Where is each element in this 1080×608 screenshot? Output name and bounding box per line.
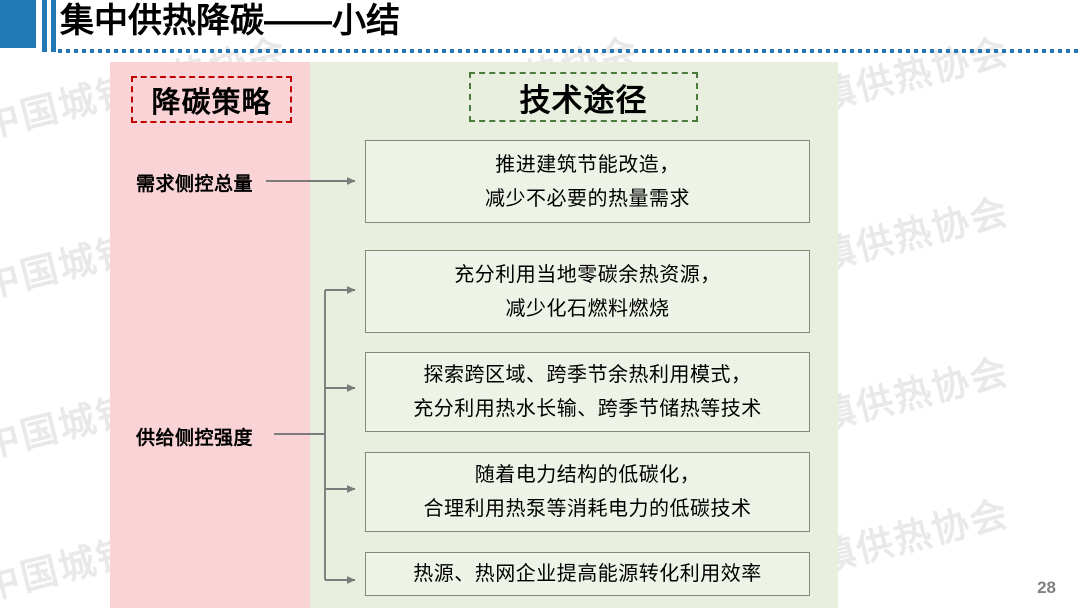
tech-box-line: 充分利用当地零碳余热资源， — [454, 258, 721, 292]
title-accent-bar-1 — [42, 0, 47, 52]
page-title: 集中供热降碳——小结 — [60, 0, 400, 44]
tech-box-line: 随着电力结构的低碳化， — [475, 458, 701, 492]
tech-box-line: 推进建筑节能改造， — [495, 148, 680, 182]
strategy-label-demand-side: 需求侧控总量 — [136, 169, 253, 196]
strategy-panel — [110, 62, 310, 608]
tech-box: 热源、热网企业提高能源转化利用效率 — [365, 552, 810, 596]
tech-box: 随着电力结构的低碳化， 合理利用热泵等消耗电力的低碳技术 — [365, 452, 810, 532]
tech-box: 推进建筑节能改造， 减少不必要的热量需求 — [365, 140, 810, 223]
title-accent-block — [0, 0, 36, 48]
title-dotted-divider — [58, 49, 1080, 53]
tech-box-line: 减少不必要的热量需求 — [485, 182, 690, 216]
slide-header: 集中供热降碳——小结 — [0, 0, 1080, 56]
tech-box: 充分利用当地零碳余热资源， 减少化石燃料燃烧 — [365, 250, 810, 333]
technology-header: 技术途径 — [469, 72, 698, 122]
slide-root: 中国城镇供热协会 中国城镇供热协会 中国城镇供热协会 中国城镇供热协会 中国城镇… — [0, 0, 1080, 608]
tech-box-line: 减少化石燃料燃烧 — [506, 292, 670, 326]
tech-box-line: 探索跨区域、跨季节余热利用模式， — [424, 358, 752, 392]
strategy-header: 降碳策略 — [131, 76, 292, 123]
tech-box-line: 热源、热网企业提高能源转化利用效率 — [413, 557, 762, 591]
tech-box-line: 合理利用热泵等消耗电力的低碳技术 — [424, 492, 752, 526]
strategy-label-supply-side: 供给侧控强度 — [136, 423, 253, 450]
title-accent-bar-2 — [51, 0, 56, 52]
tech-box: 探索跨区域、跨季节余热利用模式， 充分利用热水长输、跨季节储热等技术 — [365, 352, 810, 432]
tech-box-line: 充分利用热水长输、跨季节储热等技术 — [413, 392, 762, 426]
page-number: 28 — [1037, 578, 1056, 598]
